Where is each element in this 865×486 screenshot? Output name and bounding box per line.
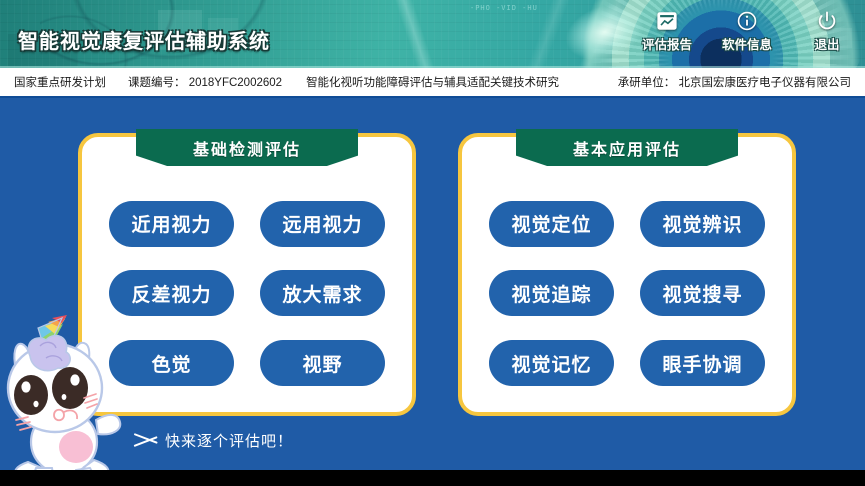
- application-window: -PHO -VID -HU 智能视觉康复评估辅助系统 评估报告: [0, 0, 865, 486]
- project-number: 课题编号： 2018YFC2002602: [128, 74, 282, 90]
- project-title: 智能化视听功能障碍评估与辅具适配关键技术研究: [306, 74, 559, 90]
- software-info-button[interactable]: 软件信息: [719, 10, 775, 53]
- program-name: 国家重点研发计划: [14, 74, 106, 90]
- assessment-button-visual-recognition[interactable]: 视觉辨识: [640, 201, 765, 247]
- research-org: 承研单位： 北京国宏康医疗电子仪器有限公司: [618, 74, 851, 90]
- app-header: -PHO -VID -HU 智能视觉康复评估辅助系统 评估报告: [0, 0, 865, 68]
- hint-text: 快来逐个评估吧！: [165, 430, 293, 451]
- page-title: 智能视觉康复评估辅助系统: [18, 25, 270, 54]
- project-info-bar: 国家重点研发计划 课题编号： 2018YFC2002602 智能化视听功能障碍评…: [0, 68, 865, 98]
- angle-left-icon: [132, 427, 158, 453]
- unicorn-mascot: [2, 312, 124, 486]
- panel-basic-detection-title: 基础检测评估: [193, 136, 301, 160]
- assessment-button-visual-field[interactable]: 视野: [260, 340, 385, 386]
- main-stage: 基础检测评估 近用视力 远用视力 反差视力 放大需求 色觉 视野 基本应用评估 …: [0, 96, 865, 470]
- software-info-label: 软件信息: [722, 34, 772, 53]
- info-circle-icon: [736, 10, 758, 32]
- assessment-button-contrast-vision[interactable]: 反差视力: [109, 270, 234, 316]
- panel-basic-application: 基本应用评估 视觉定位 视觉辨识 视觉追踪 视觉搜寻 视觉记忆 眼手协调: [458, 133, 796, 416]
- assessment-button-color-vision[interactable]: 色觉: [109, 340, 234, 386]
- assessment-button-eye-hand-coordination[interactable]: 眼手协调: [640, 340, 765, 386]
- panel-basic-application-title: 基本应用评估: [573, 136, 681, 160]
- assessment-button-visual-search[interactable]: 视觉搜寻: [640, 270, 765, 316]
- panel-basic-application-buttons: 视觉定位 视觉辨识 视觉追踪 视觉搜寻 视觉记忆 眼手协调: [462, 189, 792, 398]
- panel-basic-detection-ribbon: 基础检测评估: [136, 129, 358, 166]
- assessment-button-magnification[interactable]: 放大需求: [260, 270, 385, 316]
- assessment-button-distance-vision[interactable]: 远用视力: [260, 201, 385, 247]
- assessment-report-label: 评估报告: [642, 34, 692, 53]
- unicorn-mascot-illustration: [2, 312, 124, 486]
- report-chart-icon: [656, 10, 678, 32]
- panel-basic-application-ribbon: 基本应用评估: [516, 129, 738, 166]
- header-code-text: -PHO -VID -HU: [470, 4, 620, 40]
- exit-button[interactable]: 退出: [799, 10, 855, 53]
- panel-basic-detection: 基础检测评估 近用视力 远用视力 反差视力 放大需求 色觉 视野: [78, 133, 416, 416]
- assessment-button-visual-memory[interactable]: 视觉记忆: [489, 340, 614, 386]
- assessment-button-visual-localization[interactable]: 视觉定位: [489, 201, 614, 247]
- assessment-report-button[interactable]: 评估报告: [639, 10, 695, 53]
- assessment-button-visual-tracking[interactable]: 视觉追踪: [489, 270, 614, 316]
- panel-basic-detection-buttons: 近用视力 远用视力 反差视力 放大需求 色觉 视野: [82, 189, 412, 398]
- bottom-letterbox-bar: [0, 470, 865, 486]
- power-icon: [816, 10, 838, 32]
- header-actions: 评估报告 软件信息: [639, 10, 855, 53]
- assessment-button-near-vision[interactable]: 近用视力: [109, 201, 234, 247]
- exit-label: 退出: [814, 34, 839, 53]
- hint-callout: 快来逐个评估吧！: [132, 427, 293, 453]
